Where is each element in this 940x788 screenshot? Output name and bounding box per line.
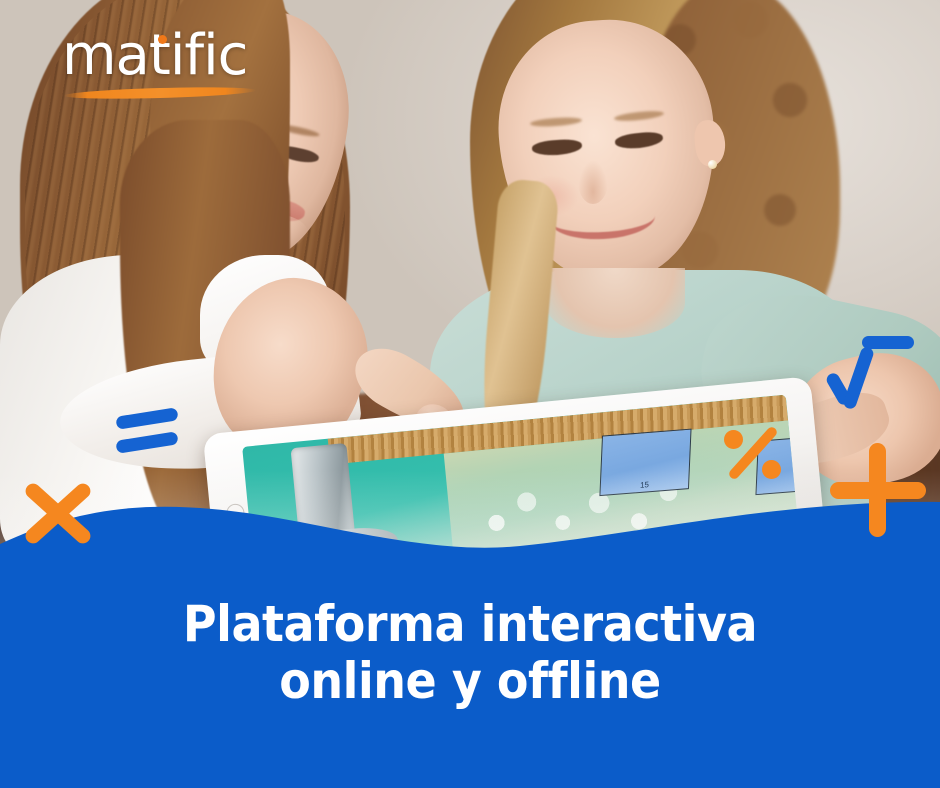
equals-bar-bottom: [115, 431, 178, 454]
girl-right-neckline: [545, 268, 685, 338]
plus-vertical-stroke: [869, 443, 886, 537]
headline-line-1: Plataforma interactiva: [183, 595, 757, 653]
matific-logo[interactable]: matific: [62, 28, 262, 108]
sqrt-top-bar: [862, 336, 914, 349]
girl-right-earring: [708, 160, 717, 169]
plus-sign-icon: [828, 440, 928, 540]
percent-sign-icon: [716, 424, 788, 486]
percent-dot-top: [724, 430, 743, 449]
multiplication-sign-icon: [14, 468, 102, 556]
percent-dot-bottom: [762, 460, 781, 479]
sqrt-long-stroke: [842, 346, 875, 411]
square-root-sign-icon: [822, 334, 916, 414]
promo-poster: 15 13 matific: [0, 0, 940, 788]
headline-line-2: online y offline: [38, 653, 903, 710]
equals-sign-icon: [116, 406, 186, 462]
equals-bar-top: [115, 407, 178, 430]
logo-dot-icon: [158, 35, 167, 44]
headline: Plataforma interactiva online y offline: [38, 596, 903, 710]
